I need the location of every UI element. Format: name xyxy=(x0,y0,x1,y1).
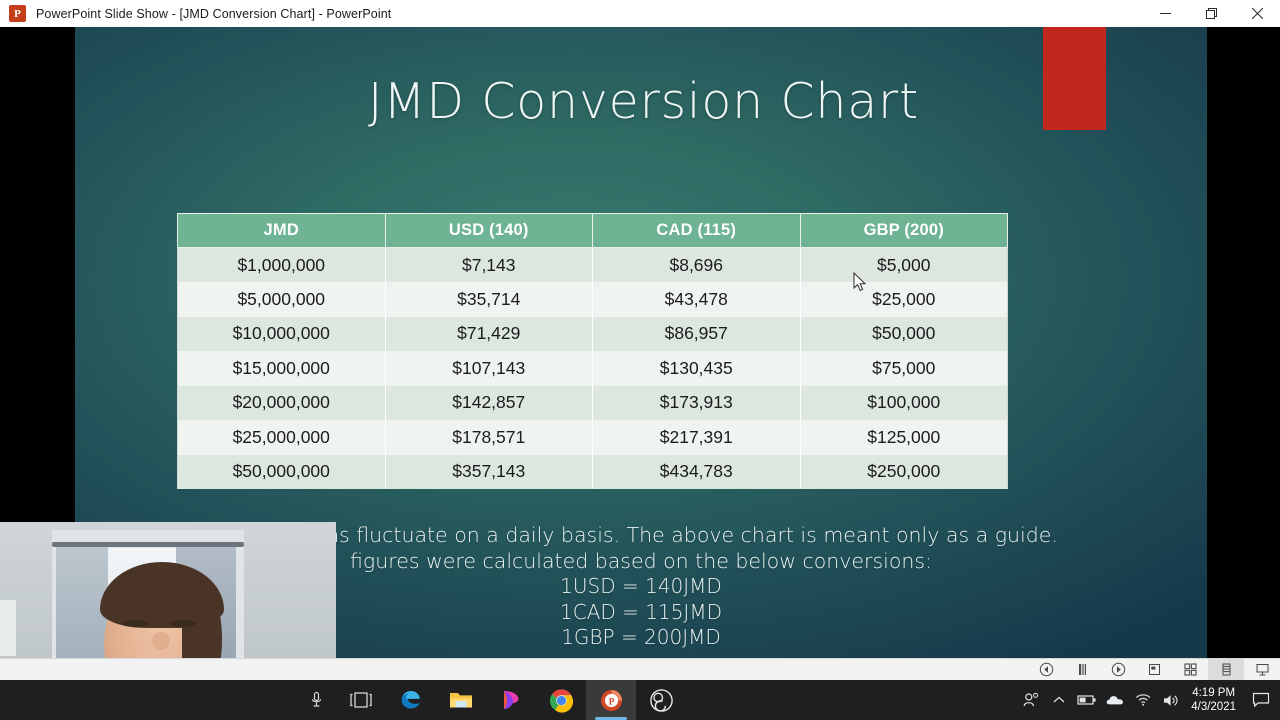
cell-jmd: $15,000,000 xyxy=(178,351,386,386)
cell-gbp: $75,000 xyxy=(800,351,1008,386)
cell-cad: $434,783 xyxy=(593,455,801,490)
slideshow-control-bar xyxy=(0,658,1280,680)
webcam-eyebrow-left xyxy=(122,610,148,614)
people-icon[interactable] xyxy=(1017,680,1045,720)
powerpoint-icon: P xyxy=(9,5,26,22)
cell-usd: $71,429 xyxy=(385,317,593,352)
cell-cad: $173,913 xyxy=(593,386,801,421)
cell-jmd: $50,000,000 xyxy=(178,455,386,490)
taskbar-app-file-explorer[interactable] xyxy=(436,680,486,720)
next-slide-button[interactable] xyxy=(1100,659,1136,680)
taskbar-app-obs[interactable] xyxy=(636,680,686,720)
cell-usd: $35,714 xyxy=(385,282,593,317)
taskbar-left-region xyxy=(0,680,336,720)
grid-icon[interactable] xyxy=(1172,659,1208,680)
cell-gbp: $125,000 xyxy=(800,420,1008,455)
webcam-eyebrow-right xyxy=(170,610,196,614)
taskbar-app-powerpoint[interactable]: P xyxy=(586,680,636,720)
column-header-gbp: GBP (200) xyxy=(800,214,1008,248)
cell-gbp: $50,000 xyxy=(800,317,1008,352)
chevron-up-icon[interactable] xyxy=(1045,680,1073,720)
webcam-wall-frame xyxy=(0,600,16,656)
cell-gbp: $25,000 xyxy=(800,282,1008,317)
table-header-row: JMD USD (140) CAD (115) GBP (200) xyxy=(178,214,1008,248)
cell-cad: $130,435 xyxy=(593,351,801,386)
cell-jmd: $10,000,000 xyxy=(178,317,386,352)
cell-jmd: $5,000,000 xyxy=(178,282,386,317)
cell-cad: $43,478 xyxy=(593,282,801,317)
table-row: $50,000,000 $357,143 $434,783 $250,000 xyxy=(178,455,1008,490)
cell-jmd: $20,000,000 xyxy=(178,386,386,421)
cell-usd: $142,857 xyxy=(385,386,593,421)
column-header-jmd: JMD xyxy=(178,214,386,248)
microphone-icon[interactable] xyxy=(296,680,336,720)
taskbar-app-buttons: P xyxy=(336,680,686,720)
cell-jmd: $1,000,000 xyxy=(178,248,386,283)
cell-usd: $357,143 xyxy=(385,455,593,490)
previous-slide-button[interactable] xyxy=(1028,659,1064,680)
zoom-slide-icon[interactable] xyxy=(1208,659,1244,680)
cell-cad: $217,391 xyxy=(593,420,801,455)
taskbar-app-paint-3d[interactable] xyxy=(486,680,536,720)
column-header-cad: CAD (115) xyxy=(593,214,801,248)
webcam-eye-right xyxy=(170,620,196,627)
presenter-view-icon[interactable] xyxy=(1244,659,1280,680)
restore-icon[interactable] xyxy=(1188,0,1234,27)
action-center-icon[interactable] xyxy=(1246,680,1276,720)
wifi-icon[interactable] xyxy=(1129,680,1157,720)
window-title: PowerPoint Slide Show - [JMD Conversion … xyxy=(36,7,391,21)
table-row: $15,000,000 $107,143 $130,435 $75,000 xyxy=(178,351,1008,386)
arrow-cursor xyxy=(853,272,867,292)
cell-usd: $7,143 xyxy=(385,248,593,283)
screen: P PowerPoint Slide Show - [JMD Conversio… xyxy=(0,0,1280,720)
webcam-curtain-rod xyxy=(52,542,244,547)
cell-cad: $8,696 xyxy=(593,248,801,283)
webcam-eye-left xyxy=(122,620,148,627)
table-row: $25,000,000 $178,571 $217,391 $125,000 xyxy=(178,420,1008,455)
table-row: $1,000,000 $7,143 $8,696 $5,000 xyxy=(178,248,1008,283)
taskbar-app-chrome[interactable] xyxy=(536,680,586,720)
svg-text:P: P xyxy=(608,696,614,706)
conversion-table: JMD USD (140) CAD (115) GBP (200) $1,000… xyxy=(177,213,1008,489)
cell-gbp: $100,000 xyxy=(800,386,1008,421)
close-icon[interactable] xyxy=(1234,0,1280,27)
system-tray: 4:19 PM 4/3/2021 xyxy=(1017,680,1280,720)
clock-time: 4:19 PM xyxy=(1191,686,1236,700)
task-view-icon[interactable] xyxy=(336,680,386,720)
table-row: $20,000,000 $142,857 $173,913 $100,000 xyxy=(178,386,1008,421)
taskbar: P xyxy=(0,680,1280,720)
cell-jmd: $25,000,000 xyxy=(178,420,386,455)
table-row: $5,000,000 $35,714 $43,478 $25,000 xyxy=(178,282,1008,317)
webcam-nose xyxy=(152,632,170,650)
cloud-icon[interactable] xyxy=(1101,680,1129,720)
window-controls xyxy=(1142,0,1280,27)
cell-cad: $86,957 xyxy=(593,317,801,352)
column-header-usd: USD (140) xyxy=(385,214,593,248)
cell-usd: $107,143 xyxy=(385,351,593,386)
clock-date: 4/3/2021 xyxy=(1191,700,1236,714)
speaker-icon[interactable] xyxy=(1157,680,1185,720)
taskbar-clock[interactable]: 4:19 PM 4/3/2021 xyxy=(1185,680,1246,720)
cell-gbp: $5,000 xyxy=(800,248,1008,283)
minimize-icon[interactable] xyxy=(1142,0,1188,27)
notes-icon[interactable] xyxy=(1136,659,1172,680)
pen-icon[interactable] xyxy=(1064,659,1100,680)
slide-title: JMD Conversion Chart xyxy=(75,73,1207,130)
taskbar-app-edge[interactable] xyxy=(386,680,436,720)
cell-gbp: $250,000 xyxy=(800,455,1008,490)
title-bar: P PowerPoint Slide Show - [JMD Conversio… xyxy=(0,0,1280,27)
table-row: $10,000,000 $71,429 $86,957 $50,000 xyxy=(178,317,1008,352)
battery-icon[interactable] xyxy=(1073,680,1101,720)
cell-usd: $178,571 xyxy=(385,420,593,455)
